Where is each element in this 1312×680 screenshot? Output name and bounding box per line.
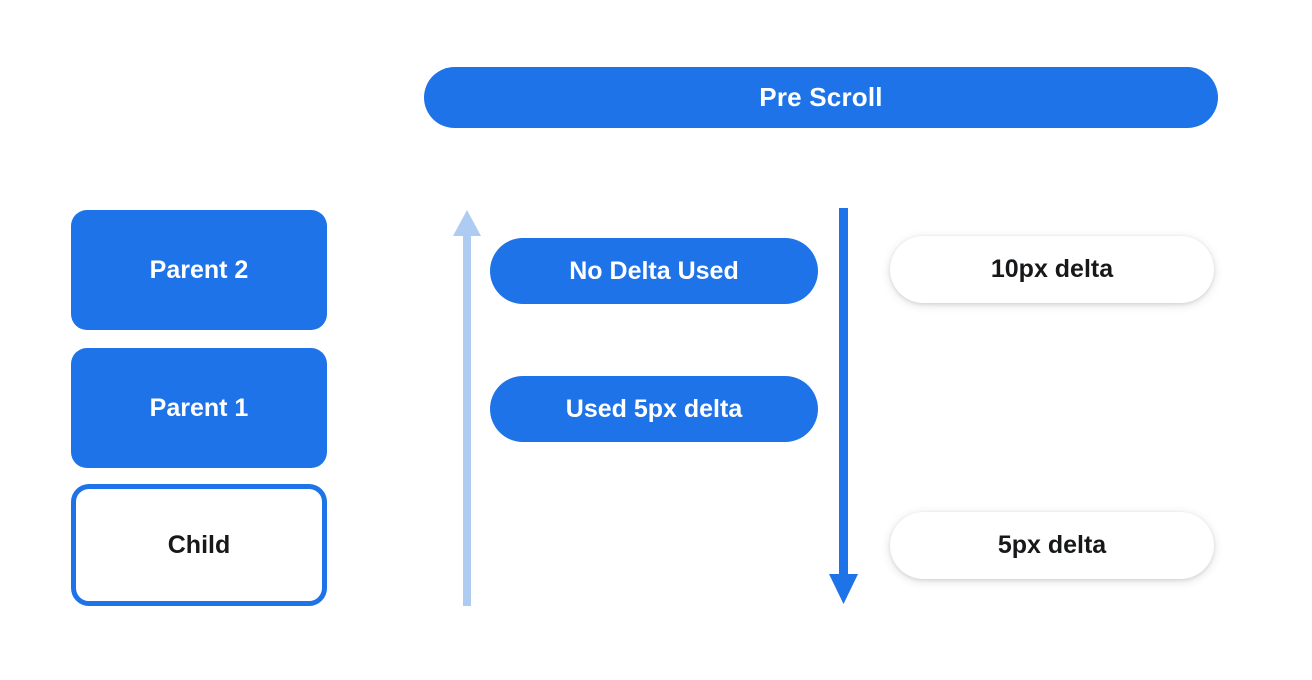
downward-arrow-icon [826, 208, 862, 606]
upward-arrow-icon [452, 208, 482, 606]
pill-5px-delta-label: 5px delta [998, 531, 1106, 560]
hierarchy-box-child: Child [71, 484, 327, 606]
hierarchy-box-parent-2-label: Parent 2 [150, 256, 249, 285]
hierarchy-box-parent-1-label: Parent 1 [150, 394, 249, 423]
pill-5px-delta: 5px delta [890, 512, 1214, 579]
pill-10px-delta-label: 10px delta [991, 255, 1113, 284]
pill-no-delta-used-label: No Delta Used [569, 257, 738, 286]
hierarchy-box-parent-2: Parent 2 [71, 210, 327, 330]
hierarchy-box-child-label: Child [168, 531, 231, 560]
diagram-canvas: Pre Scroll Parent 2 Parent 1 Child No De… [0, 0, 1312, 680]
pre-scroll-banner: Pre Scroll [424, 67, 1218, 128]
hierarchy-box-parent-1: Parent 1 [71, 348, 327, 468]
pre-scroll-banner-label: Pre Scroll [759, 83, 882, 113]
pill-used-5px-delta-label: Used 5px delta [566, 395, 742, 424]
pill-no-delta-used: No Delta Used [490, 238, 818, 304]
pill-used-5px-delta: Used 5px delta [490, 376, 818, 442]
pill-10px-delta: 10px delta [890, 236, 1214, 303]
